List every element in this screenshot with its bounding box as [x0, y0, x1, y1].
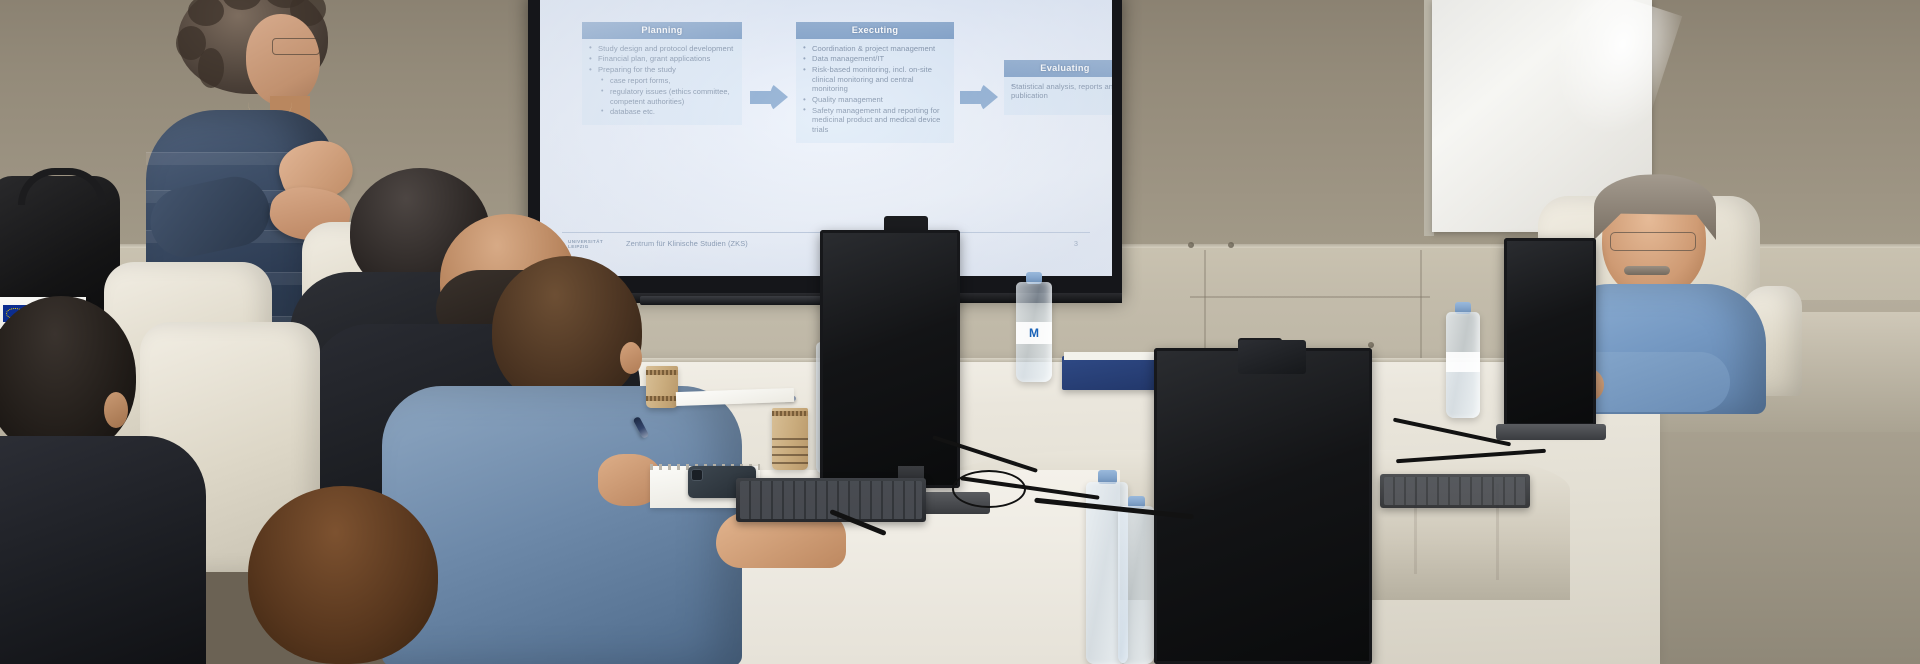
phone-camera-icon [691, 469, 703, 481]
flow-column-executing: Executing Coordination & project managem… [796, 22, 954, 143]
flow-column-planning: Planning Study design and protocol devel… [582, 22, 742, 125]
university-logo-line2: LEIPZIG [568, 244, 614, 249]
attendee-right-moustache [1624, 266, 1670, 275]
keyboard-center[interactable] [736, 478, 926, 522]
bottle-label [1446, 352, 1480, 372]
flow-column-evaluating: Evaluating Statistical analysis, reports… [1004, 60, 1112, 115]
presenter-glasses [272, 38, 320, 55]
attendee-d-torso [0, 436, 206, 664]
bullet-sub: regulatory issues (ethics committee, com… [587, 87, 735, 106]
bullet: Quality management [801, 95, 947, 104]
monitor-far-right-bezel [1504, 238, 1596, 426]
attendee-c-ear [620, 342, 642, 374]
flow-column-executing-header: Executing [796, 22, 954, 39]
flow-arrow-2-icon [960, 82, 998, 112]
keyboard-keys [1384, 477, 1526, 505]
attendee-e-head [248, 486, 438, 664]
flow-arrow-1-icon [750, 82, 788, 112]
bullet: Safety management and reporting for medi… [801, 106, 947, 134]
water-bottle-foreground-2 [1118, 506, 1154, 664]
slide-flow-diagram: Planning Study design and protocol devel… [574, 8, 1094, 194]
slide-page-number: 3 [1074, 239, 1078, 248]
flow-column-planning-body: Study design and protocol development Fi… [582, 39, 742, 126]
folder-paper [1064, 352, 1160, 360]
university-logo: UNIVERSITÄT LEIPZIG [568, 239, 614, 250]
stacked-cups [772, 408, 808, 470]
bullet: Study design and protocol development [587, 44, 735, 53]
screenshot-root: support in all stages of a clinical tria… [0, 0, 1920, 664]
attendee-d-ear [104, 392, 128, 428]
water-bottle-left: M [1016, 282, 1052, 382]
presenter-face [246, 14, 320, 106]
bullet: Preparing for the study [587, 65, 735, 74]
bullet-sub: database etc. [587, 107, 735, 116]
bullet: Coordination & project management [801, 44, 947, 53]
bullet: Financial plan, grant applications [587, 54, 735, 63]
flow-column-evaluating-header: Evaluating [1004, 60, 1112, 77]
blue-folder [1062, 356, 1166, 390]
water-bottle-right [1446, 312, 1480, 418]
flow-column-planning-header: Planning [582, 22, 742, 39]
bottle-label: M [1016, 322, 1052, 344]
bullet: Statistical analysis, reports and public… [1009, 82, 1112, 101]
flow-column-executing-body: Coordination & project management Data m… [796, 39, 954, 143]
bullet-sub: case report forms, [587, 76, 735, 85]
monitor-far-right[interactable] [1504, 238, 1596, 426]
cable-loop-1 [952, 470, 1026, 508]
wall-seam-3 [1190, 296, 1430, 298]
projection-screen-mount [640, 296, 830, 305]
wall-screw-1 [1188, 242, 1194, 248]
wall-screw-2 [1228, 242, 1234, 248]
slide-footer-organisation: Zentrum für Klinische Studien (ZKS) [626, 239, 748, 248]
attendee-c-torso [382, 386, 742, 664]
monitor-right-bezel [1154, 348, 1372, 664]
bullet: Risk-based monitoring, incl. on-site cli… [801, 65, 947, 93]
keyboard-right[interactable] [1380, 474, 1530, 508]
monitor-far-right-base [1496, 424, 1606, 440]
monitor-center[interactable] [820, 230, 960, 488]
desk-unit-right [1238, 340, 1306, 374]
bottle-body [1118, 506, 1154, 664]
attendee-c-head [492, 256, 642, 406]
paper-cup [646, 366, 678, 408]
monitor-right[interactable] [1154, 348, 1372, 664]
flow-column-evaluating-body: Statistical analysis, reports and public… [1004, 77, 1112, 115]
attendee-right-glasses [1610, 232, 1696, 251]
monitor-center-bezel [820, 230, 960, 488]
bullet: Data management/IT [801, 54, 947, 63]
